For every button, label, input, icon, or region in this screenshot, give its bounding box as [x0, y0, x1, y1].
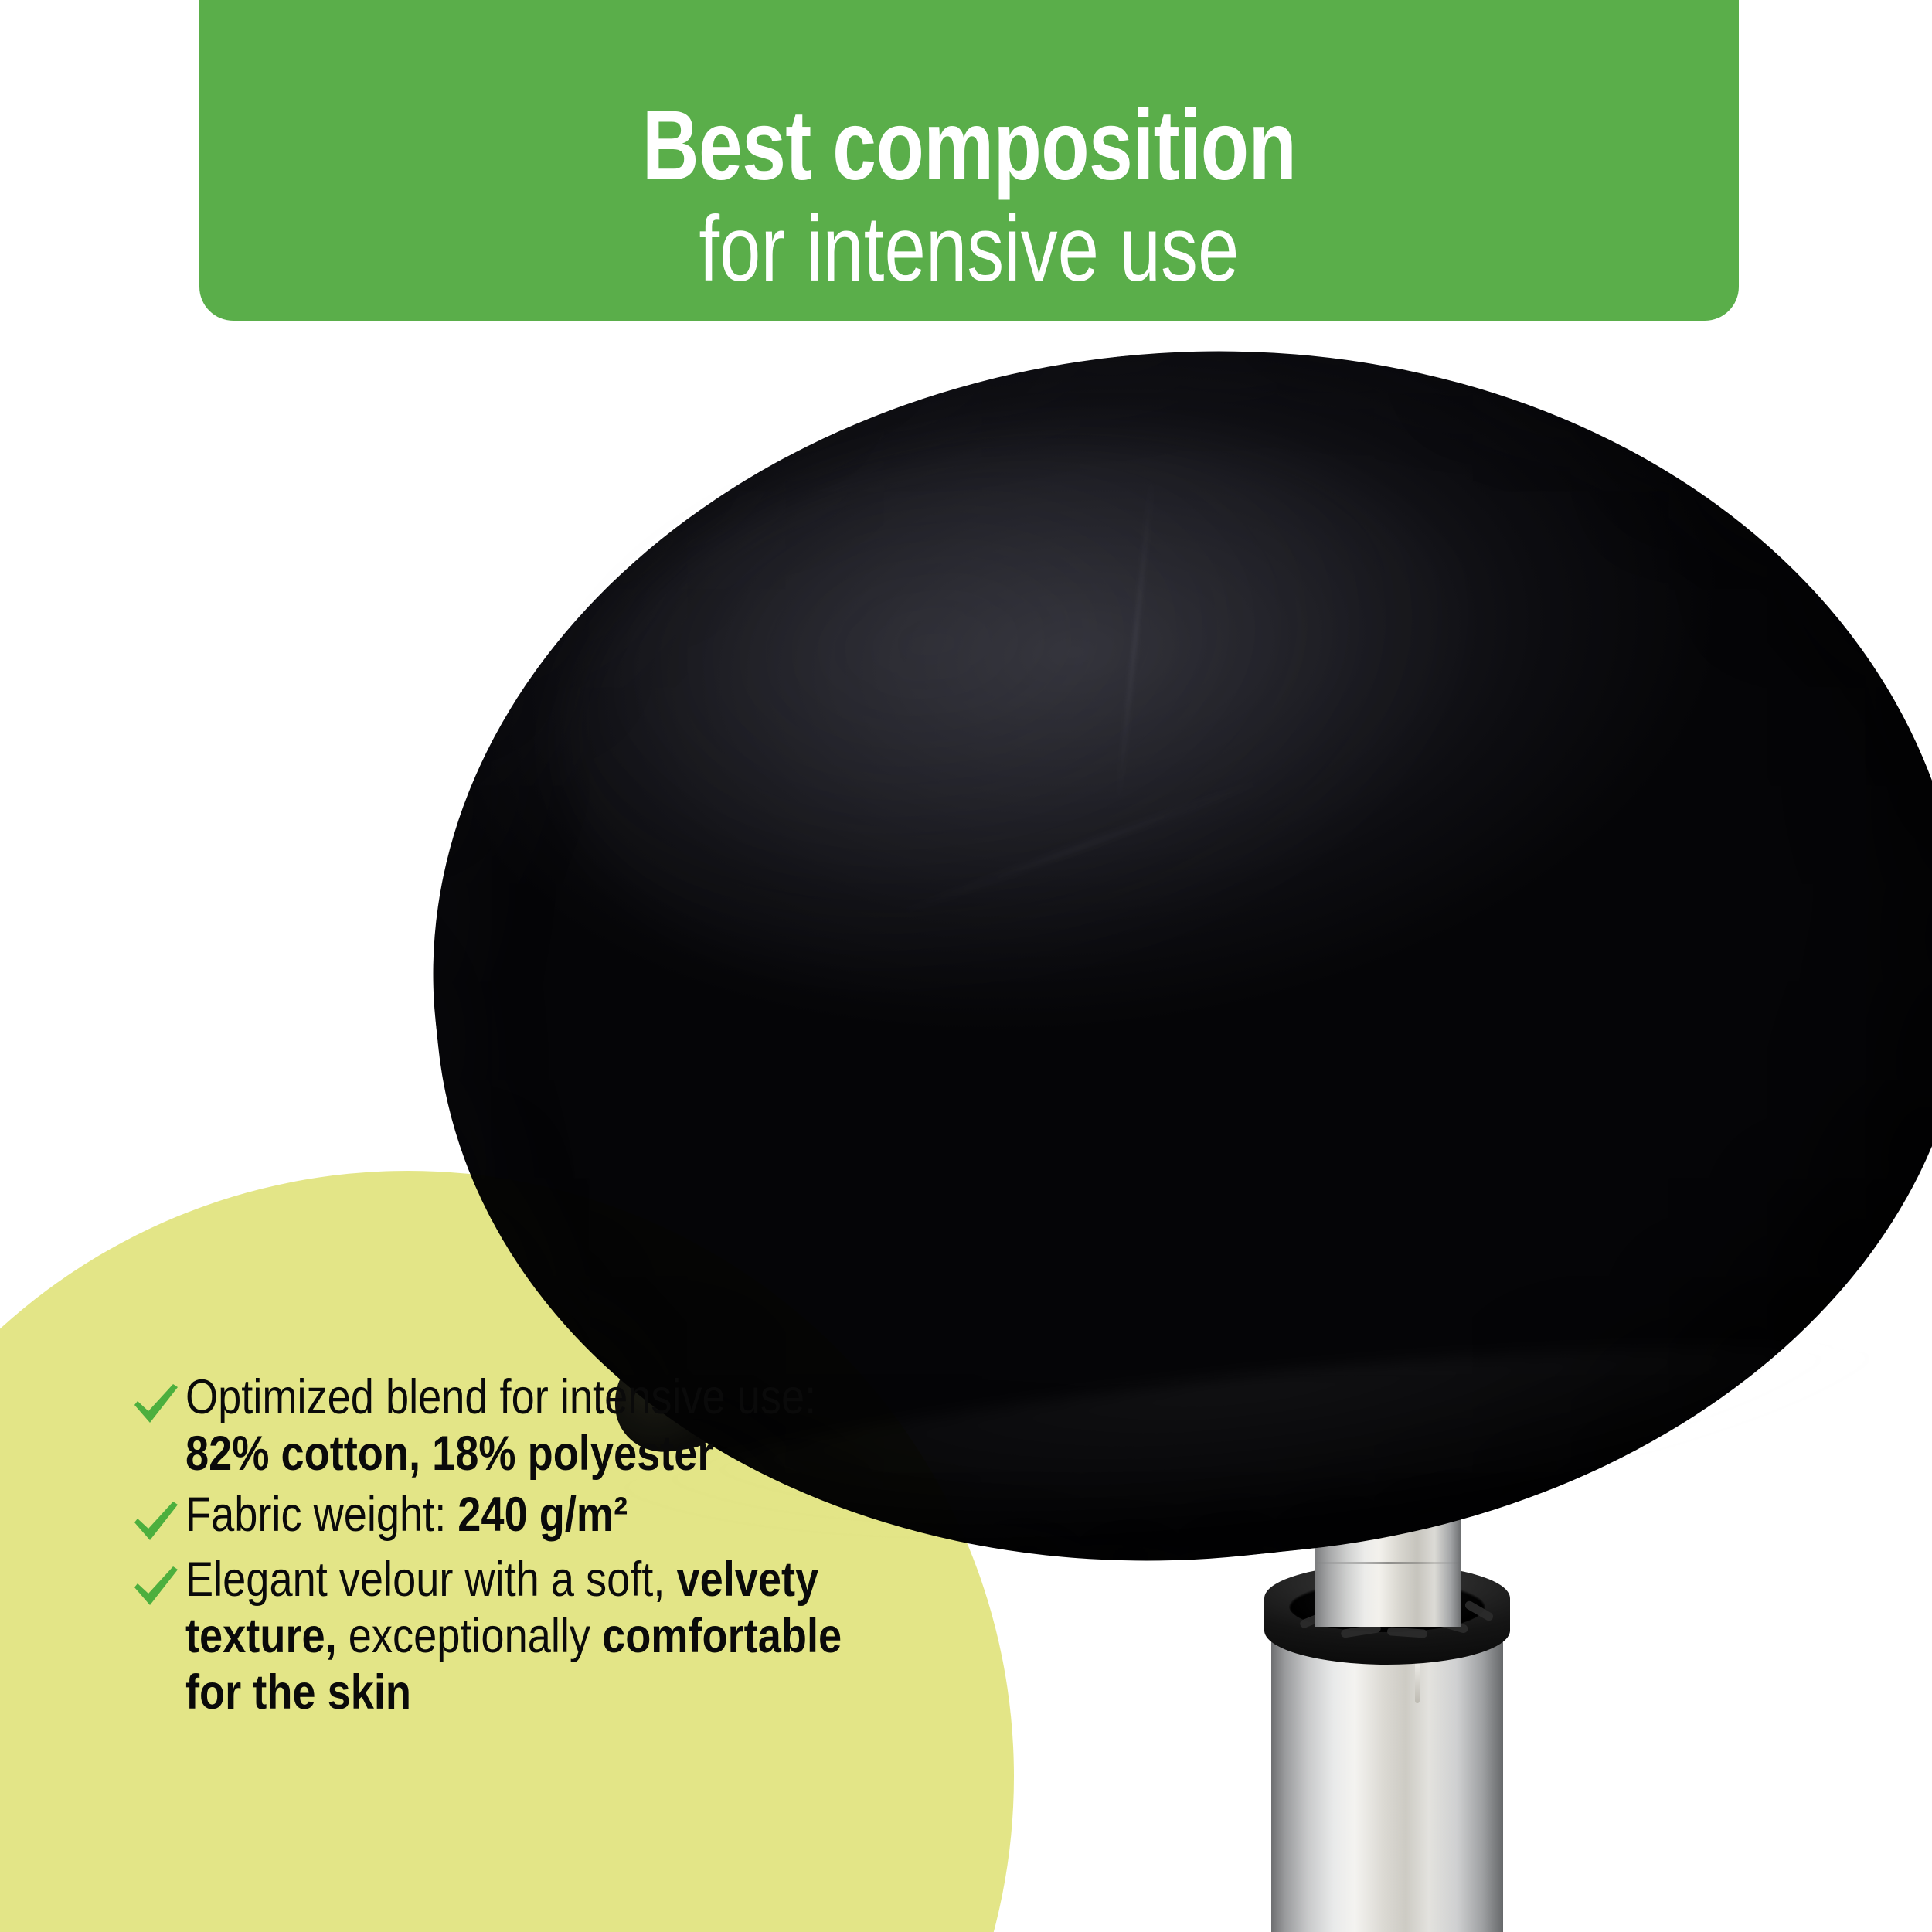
feature-list: Optimized blend for intensive use: 82% c… [130, 1369, 995, 1726]
poster-canvas: Best composition for intensive use Optim… [0, 0, 1932, 1932]
feature-text-2: Elegant velour with a soft, velvety text… [185, 1552, 882, 1721]
feature-item-1: Fabric weight: 240 g/m² [130, 1487, 995, 1547]
banner-subtitle: for intensive use [699, 197, 1239, 301]
collar-slot [1464, 1599, 1495, 1622]
check-icon [130, 1563, 181, 1612]
header-banner: Best composition for intensive use [199, 0, 1739, 321]
seat-highlight [534, 392, 1536, 1043]
feature-item-2: Elegant velour with a soft, velvety text… [130, 1552, 995, 1721]
check-icon [130, 1380, 181, 1430]
collar-slot [1387, 1627, 1428, 1638]
check-icon [130, 1498, 181, 1547]
feature-text-1: Fabric weight: 240 g/m² [185, 1487, 882, 1543]
feature-text-0: Optimized blend for intensive use: 82% c… [185, 1369, 882, 1482]
banner-title: Best composition [642, 96, 1296, 197]
feature-item-0: Optimized blend for intensive use: 82% c… [130, 1369, 995, 1482]
